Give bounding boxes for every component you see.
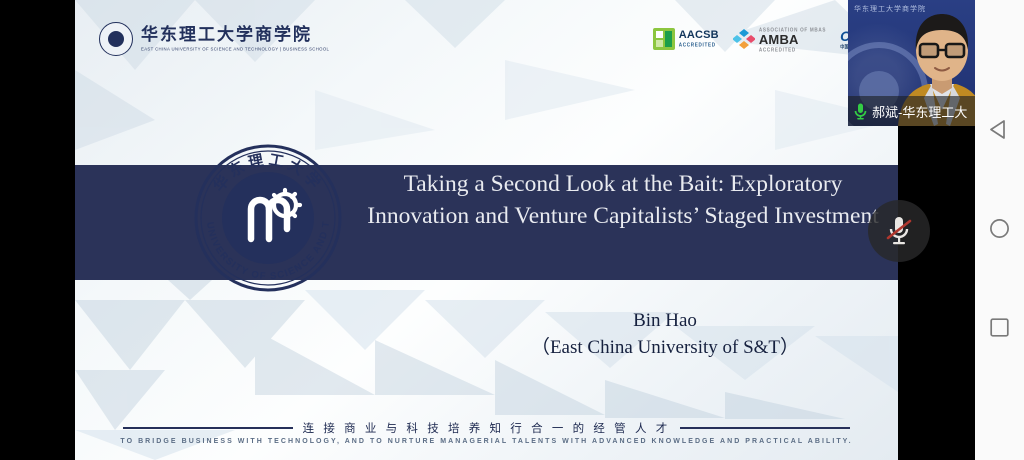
amba-text: ASSOCIATION OF MBAS AMBA ACCREDITED	[759, 26, 826, 52]
school-seal-icon	[99, 22, 133, 56]
home-circle-icon	[989, 218, 1010, 239]
school-name-cn: 华东理工大学商学院	[141, 26, 329, 43]
school-logo-lockup: 华东理工大学商学院 EAST CHINA UNIVERSITY OF SCIEN…	[99, 22, 329, 56]
participant-name: 郝斌-华东理工大	[872, 102, 967, 121]
nav-recents-button[interactable]	[975, 303, 1024, 352]
footer-rule-left	[123, 427, 293, 429]
amba-mark-icon	[733, 28, 755, 50]
amba-sub-label: ACCREDITED	[759, 48, 826, 54]
amba-main-label: AMBA	[759, 33, 826, 46]
nav-back-button[interactable]	[975, 105, 1024, 154]
badge-amba: ASSOCIATION OF MBAS AMBA ACCREDITED	[733, 26, 826, 52]
self-view-video-tile[interactable]: 华东理工大学商学院	[848, 0, 984, 126]
school-name-en: EAST CHINA UNIVERSITY OF SCIENCE AND TEC…	[141, 47, 329, 52]
aacsb-main-label: AACSB	[679, 30, 719, 41]
slide-title: Taking a Second Look at the Bait: Explor…	[363, 168, 883, 232]
recents-square-icon	[989, 317, 1010, 338]
footer-tagline-cn: 连 接 商 业 与 科 技 培 养 知 行 合 一 的 经 管 人 才	[303, 420, 671, 436]
aacsb-sub-label: ACCREDITED	[679, 43, 719, 49]
footer-rule-right	[680, 427, 850, 429]
author-block: Bin Hao （East China University of S&T）	[480, 308, 850, 361]
footer-tagline-cn-row: 连 接 商 业 与 科 技 培 养 知 行 合 一 的 经 管 人 才	[75, 420, 898, 436]
aacsb-mark-icon	[653, 28, 675, 50]
nav-home-button[interactable]	[975, 204, 1024, 253]
university-seal-logo: 华东理工大学 EAST CHINA UNIVERSITY OF SCIENCE …	[193, 143, 343, 293]
amba-eyebrow-label: ASSOCIATION OF MBAS	[759, 28, 826, 34]
footer-tagline-en: TO BRIDGE BUSINESS WITH TECHNOLOGY, AND …	[75, 438, 898, 445]
school-name-block: 华东理工大学商学院 EAST CHINA UNIVERSITY OF SCIEN…	[141, 26, 329, 51]
microphone-icon	[854, 103, 867, 120]
participant-name-strip: 郝斌-华东理工大	[848, 96, 984, 126]
author-name: Bin Hao	[480, 308, 850, 334]
mute-toggle-button[interactable]	[868, 200, 930, 262]
presentation-slide[interactable]: 华东理工大学商学院 EAST CHINA UNIVERSITY OF SCIEN…	[75, 0, 898, 460]
screen: 华东理工大学商学院 EAST CHINA UNIVERSITY OF SCIEN…	[0, 0, 1024, 460]
author-affiliation: （East China University of S&T）	[480, 334, 850, 361]
back-triangle-icon	[989, 119, 1010, 140]
badge-aacsb: AACSB ACCREDITED	[653, 28, 719, 50]
microphone-muted-icon	[884, 214, 914, 248]
android-navigation-bar	[975, 0, 1024, 460]
aacsb-text: AACSB ACCREDITED	[679, 30, 719, 48]
